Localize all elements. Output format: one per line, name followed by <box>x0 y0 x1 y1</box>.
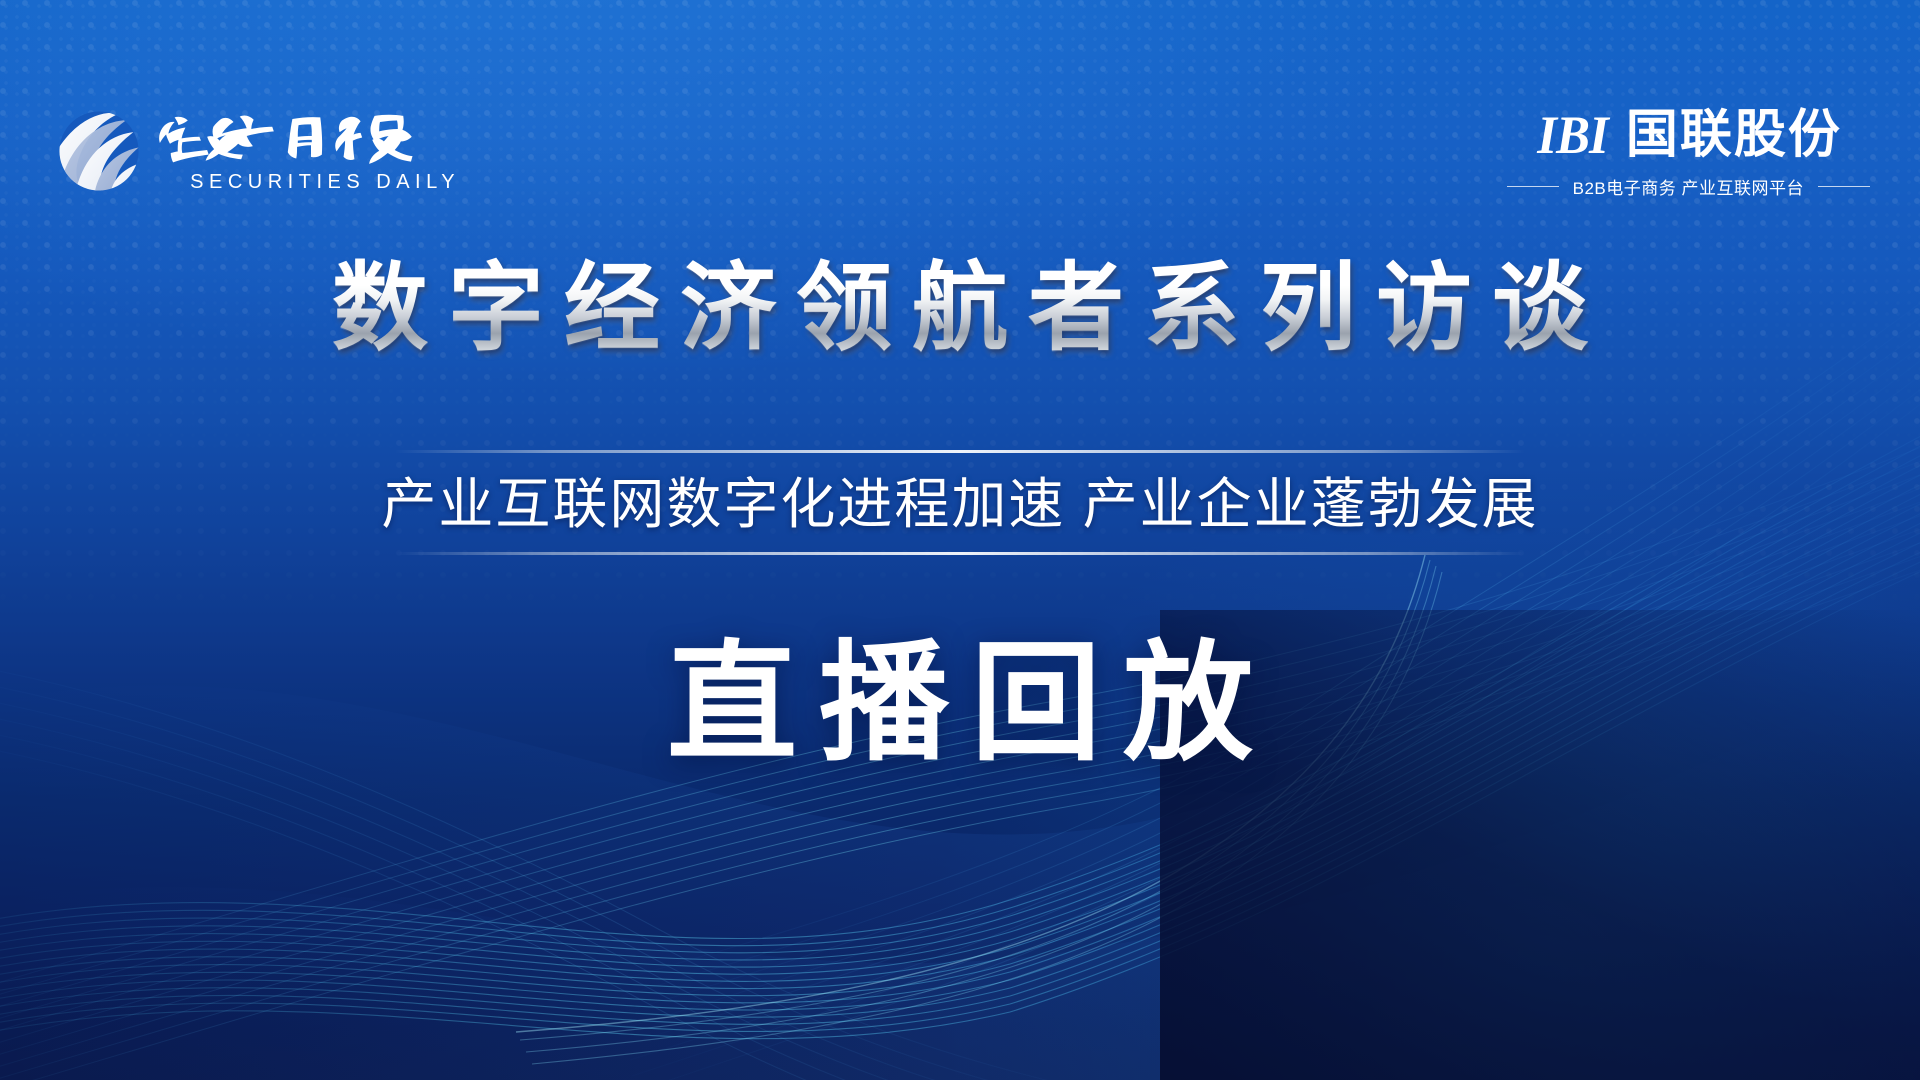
tagline-rule-left <box>1507 186 1559 187</box>
securities-daily-english-label: SECURITIES DAILY <box>185 171 460 194</box>
main-title-container: 数字经济领航者系列访谈 <box>0 252 1920 365</box>
guolian-chinese-name: 国联股份 <box>1626 109 1842 161</box>
tagline-rule-right <box>1818 186 1870 187</box>
guolian-logo: IBI 国联股份 B2B电子商务 产业互联网平台 <box>1507 108 1870 199</box>
subtitle-divider-bottom <box>395 552 1525 555</box>
securities-daily-chinese-wordmark <box>156 105 489 167</box>
tagline-text: B2B电子商务 产业互联网平台 <box>1573 174 1804 199</box>
guolian-tagline: B2B电子商务 产业互联网平台 <box>1507 174 1870 199</box>
headline-text: 直播回放 <box>645 625 1275 781</box>
securities-daily-logo: SECURITIES DAILY <box>56 105 489 194</box>
page-title: 数字经济领航者系列访谈 <box>312 252 1608 365</box>
globe-swirl-icon <box>56 108 142 194</box>
headline-container: 直播回放 <box>0 625 1920 781</box>
poster-canvas: SECURITIES DAILY IBI 国联股份 B2B电子商务 产业互联网平… <box>0 0 1920 1080</box>
page-subtitle: 产业互联网数字化进程加速 产业企业蓬勃发展 <box>381 470 1538 539</box>
ibi-monogram: IBI <box>1537 108 1608 162</box>
subtitle-divider-top <box>395 450 1525 453</box>
subtitle-container: 产业互联网数字化进程加速 产业企业蓬勃发展 <box>0 470 1920 539</box>
